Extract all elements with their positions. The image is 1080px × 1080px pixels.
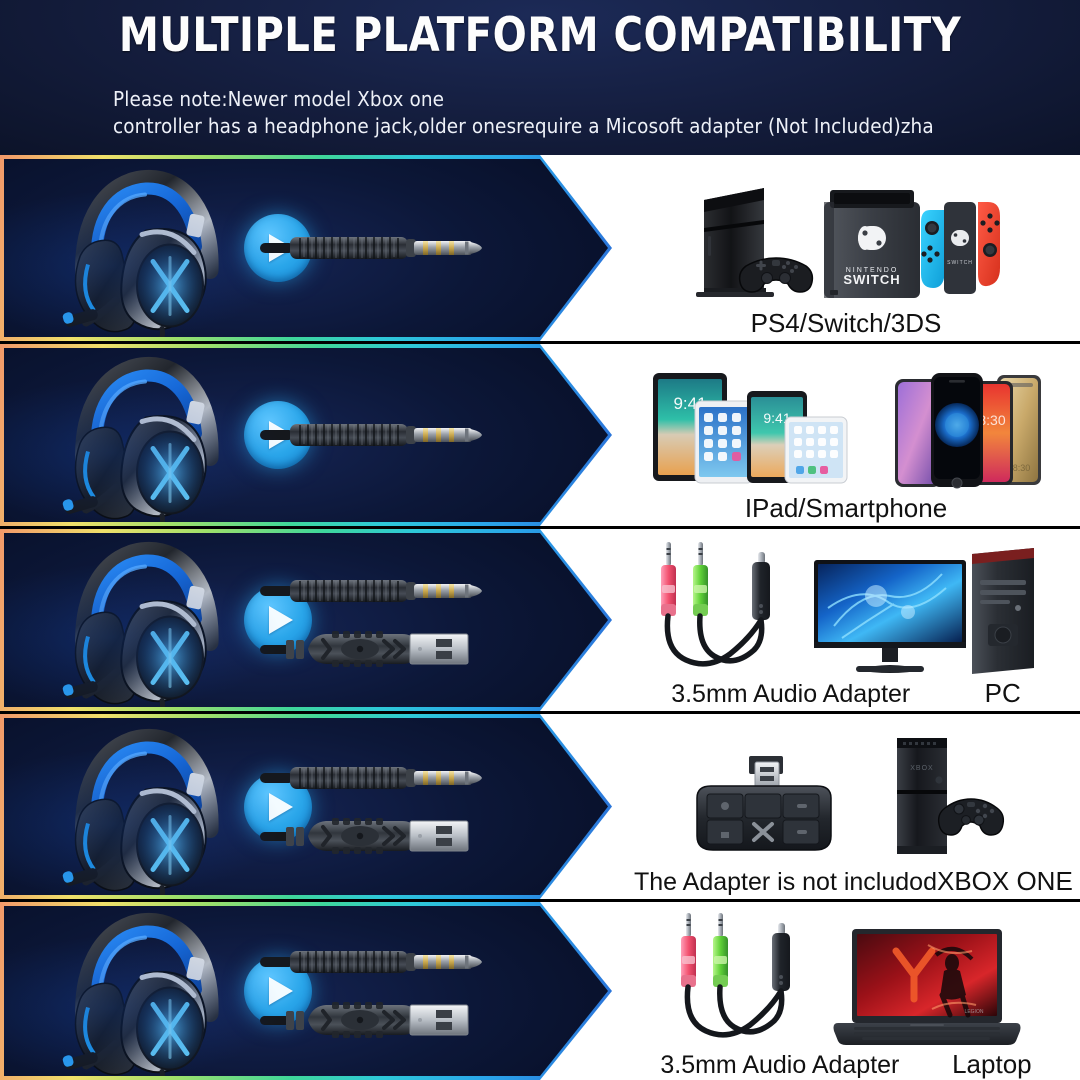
usb-connector-icon	[260, 625, 490, 673]
play-arrow-icon[interactable]	[244, 773, 312, 841]
svg-text:XBOX: XBOX	[910, 765, 933, 772]
device-art-group	[650, 529, 1042, 678]
product-infographic: MULTIPLE PLATFORM COMPATIBILITY Please n…	[0, 0, 1080, 1080]
device-caption: XBOX ONE	[937, 866, 1073, 897]
headset-panel-inner	[4, 348, 608, 522]
headset-panel-inner	[4, 159, 608, 337]
xbox-stereo-adapter-icon	[679, 754, 849, 866]
audio-jack-35mm-icon	[260, 754, 490, 802]
play-triangle	[269, 421, 293, 449]
device-panel-ps4-switch-3ds: NINTENDO SWITCH SWITCH PS4/Switch/3DS	[612, 155, 1080, 341]
audio-jack-35mm-icon	[260, 411, 490, 459]
device-caption: Laptop	[952, 1049, 1032, 1080]
device-panel-ipad-smartphone: 9:41 9:41	[612, 344, 1080, 526]
gaming-headset-icon	[50, 906, 240, 1076]
nintendo-switch-icon: NINTENDO SWITCH SWITCH	[820, 180, 1006, 308]
gaming-laptop-icon: LEGION	[832, 925, 1022, 1049]
play-triangle	[269, 606, 293, 634]
xbox-one-console-icon: XBOX	[863, 734, 1013, 866]
ipad-group-icon: 9:41 9:41	[649, 365, 879, 493]
headset-panel-ps4-switch-3ds	[0, 155, 612, 341]
caption-row: PS4/Switch/3DS	[612, 308, 1080, 339]
connector-group	[260, 411, 490, 459]
play-triangle	[269, 234, 293, 262]
svg-text:LEGION: LEGION	[965, 1009, 984, 1015]
headset-panel-inner	[4, 533, 608, 707]
ps4-console-icon	[686, 180, 806, 308]
gaming-headset-icon	[50, 719, 240, 894]
smartphone-group-icon: 08:30 8:30	[893, 367, 1043, 493]
play-arrow-icon[interactable]	[244, 957, 312, 1025]
device-caption: The Adapter is not includod	[634, 868, 937, 897]
compatibility-rows: NINTENDO SWITCH SWITCH PS4/Switch/3DS	[0, 155, 1080, 1080]
headset-panel-ipad-smartphone	[0, 344, 612, 526]
caption-row: IPad/Smartphone	[612, 493, 1080, 524]
connector-group	[260, 754, 490, 860]
audio-splitter-adapter-icon	[650, 538, 798, 678]
header-banner: MULTIPLE PLATFORM COMPATIBILITY Please n…	[0, 0, 1080, 155]
svg-text:SWITCH: SWITCH	[947, 260, 973, 266]
device-caption: 3.5mm Audio Adapter	[660, 1051, 899, 1080]
compatibility-row-ps4-switch-3ds: NINTENDO SWITCH SWITCH PS4/Switch/3DS	[0, 155, 1080, 341]
play-arrow-icon[interactable]	[244, 401, 312, 469]
device-panel-xbox-one: XBOX The Adapter is not includodXBOX ONE	[612, 714, 1080, 899]
play-arrow-icon[interactable]	[244, 214, 312, 282]
compatibility-row-ipad-smartphone: 9:41 9:41	[0, 341, 1080, 526]
usb-connector-icon	[260, 996, 490, 1044]
device-panel-pc: 3.5mm Audio AdapterPC	[612, 529, 1080, 711]
device-caption: PS4/Switch/3DS	[751, 308, 942, 339]
svg-text:SWITCH: SWITCH	[843, 272, 900, 287]
device-caption: 3.5mm Audio Adapter	[671, 680, 910, 709]
device-art-group: XBOX	[679, 714, 1013, 866]
audio-splitter-adapter-icon	[670, 909, 818, 1049]
audio-jack-35mm-icon	[260, 938, 490, 986]
headset-panel-inner	[4, 718, 608, 895]
device-art-group: LEGION	[670, 901, 1022, 1049]
play-triangle	[269, 793, 293, 821]
caption-row: 3.5mm Audio AdapterPC	[612, 678, 1080, 709]
connector-group	[260, 567, 490, 673]
play-arrow-icon[interactable]	[244, 586, 312, 654]
audio-jack-35mm-icon	[260, 224, 490, 272]
caption-row: The Adapter is not includodXBOX ONE	[612, 866, 1080, 897]
note-line-2: controller has a headphone jack,older on…	[113, 113, 934, 140]
headset-panel-pc	[0, 529, 612, 711]
gaming-headset-icon	[50, 348, 240, 522]
page-title: MULTIPLE PLATFORM COMPATIBILITY	[27, 8, 1053, 63]
device-caption: PC	[985, 678, 1021, 709]
device-art-group: NINTENDO SWITCH SWITCH	[686, 155, 1006, 308]
usb-connector-icon	[260, 812, 490, 860]
headset-panel-laptop	[0, 902, 612, 1080]
caption-row: 3.5mm Audio AdapterLaptop	[612, 1049, 1080, 1080]
play-triangle	[269, 977, 293, 1005]
gaming-headset-icon	[50, 161, 240, 336]
compatibility-note: Please note:Newer model Xbox one control…	[113, 86, 934, 140]
connector-group	[260, 938, 490, 1044]
compatibility-row-laptop: LEGION 3.5mm Audio AdapterLaptop	[0, 899, 1080, 1080]
device-panel-laptop: LEGION 3.5mm Audio AdapterLaptop	[612, 902, 1080, 1080]
connector-group	[260, 224, 490, 272]
device-caption: IPad/Smartphone	[745, 493, 947, 524]
desktop-pc-icon	[812, 546, 1042, 678]
compatibility-row-xbox-one: XBOX The Adapter is not includodXBOX ONE	[0, 711, 1080, 899]
device-art-group: 9:41 9:41	[649, 344, 1043, 493]
gaming-headset-icon	[50, 533, 240, 707]
compatibility-row-pc: 3.5mm Audio AdapterPC	[0, 526, 1080, 711]
note-line-1: Please note:Newer model Xbox one	[113, 86, 934, 113]
audio-jack-35mm-icon	[260, 567, 490, 615]
headset-panel-inner	[4, 906, 608, 1076]
headset-panel-xbox-one	[0, 714, 612, 899]
